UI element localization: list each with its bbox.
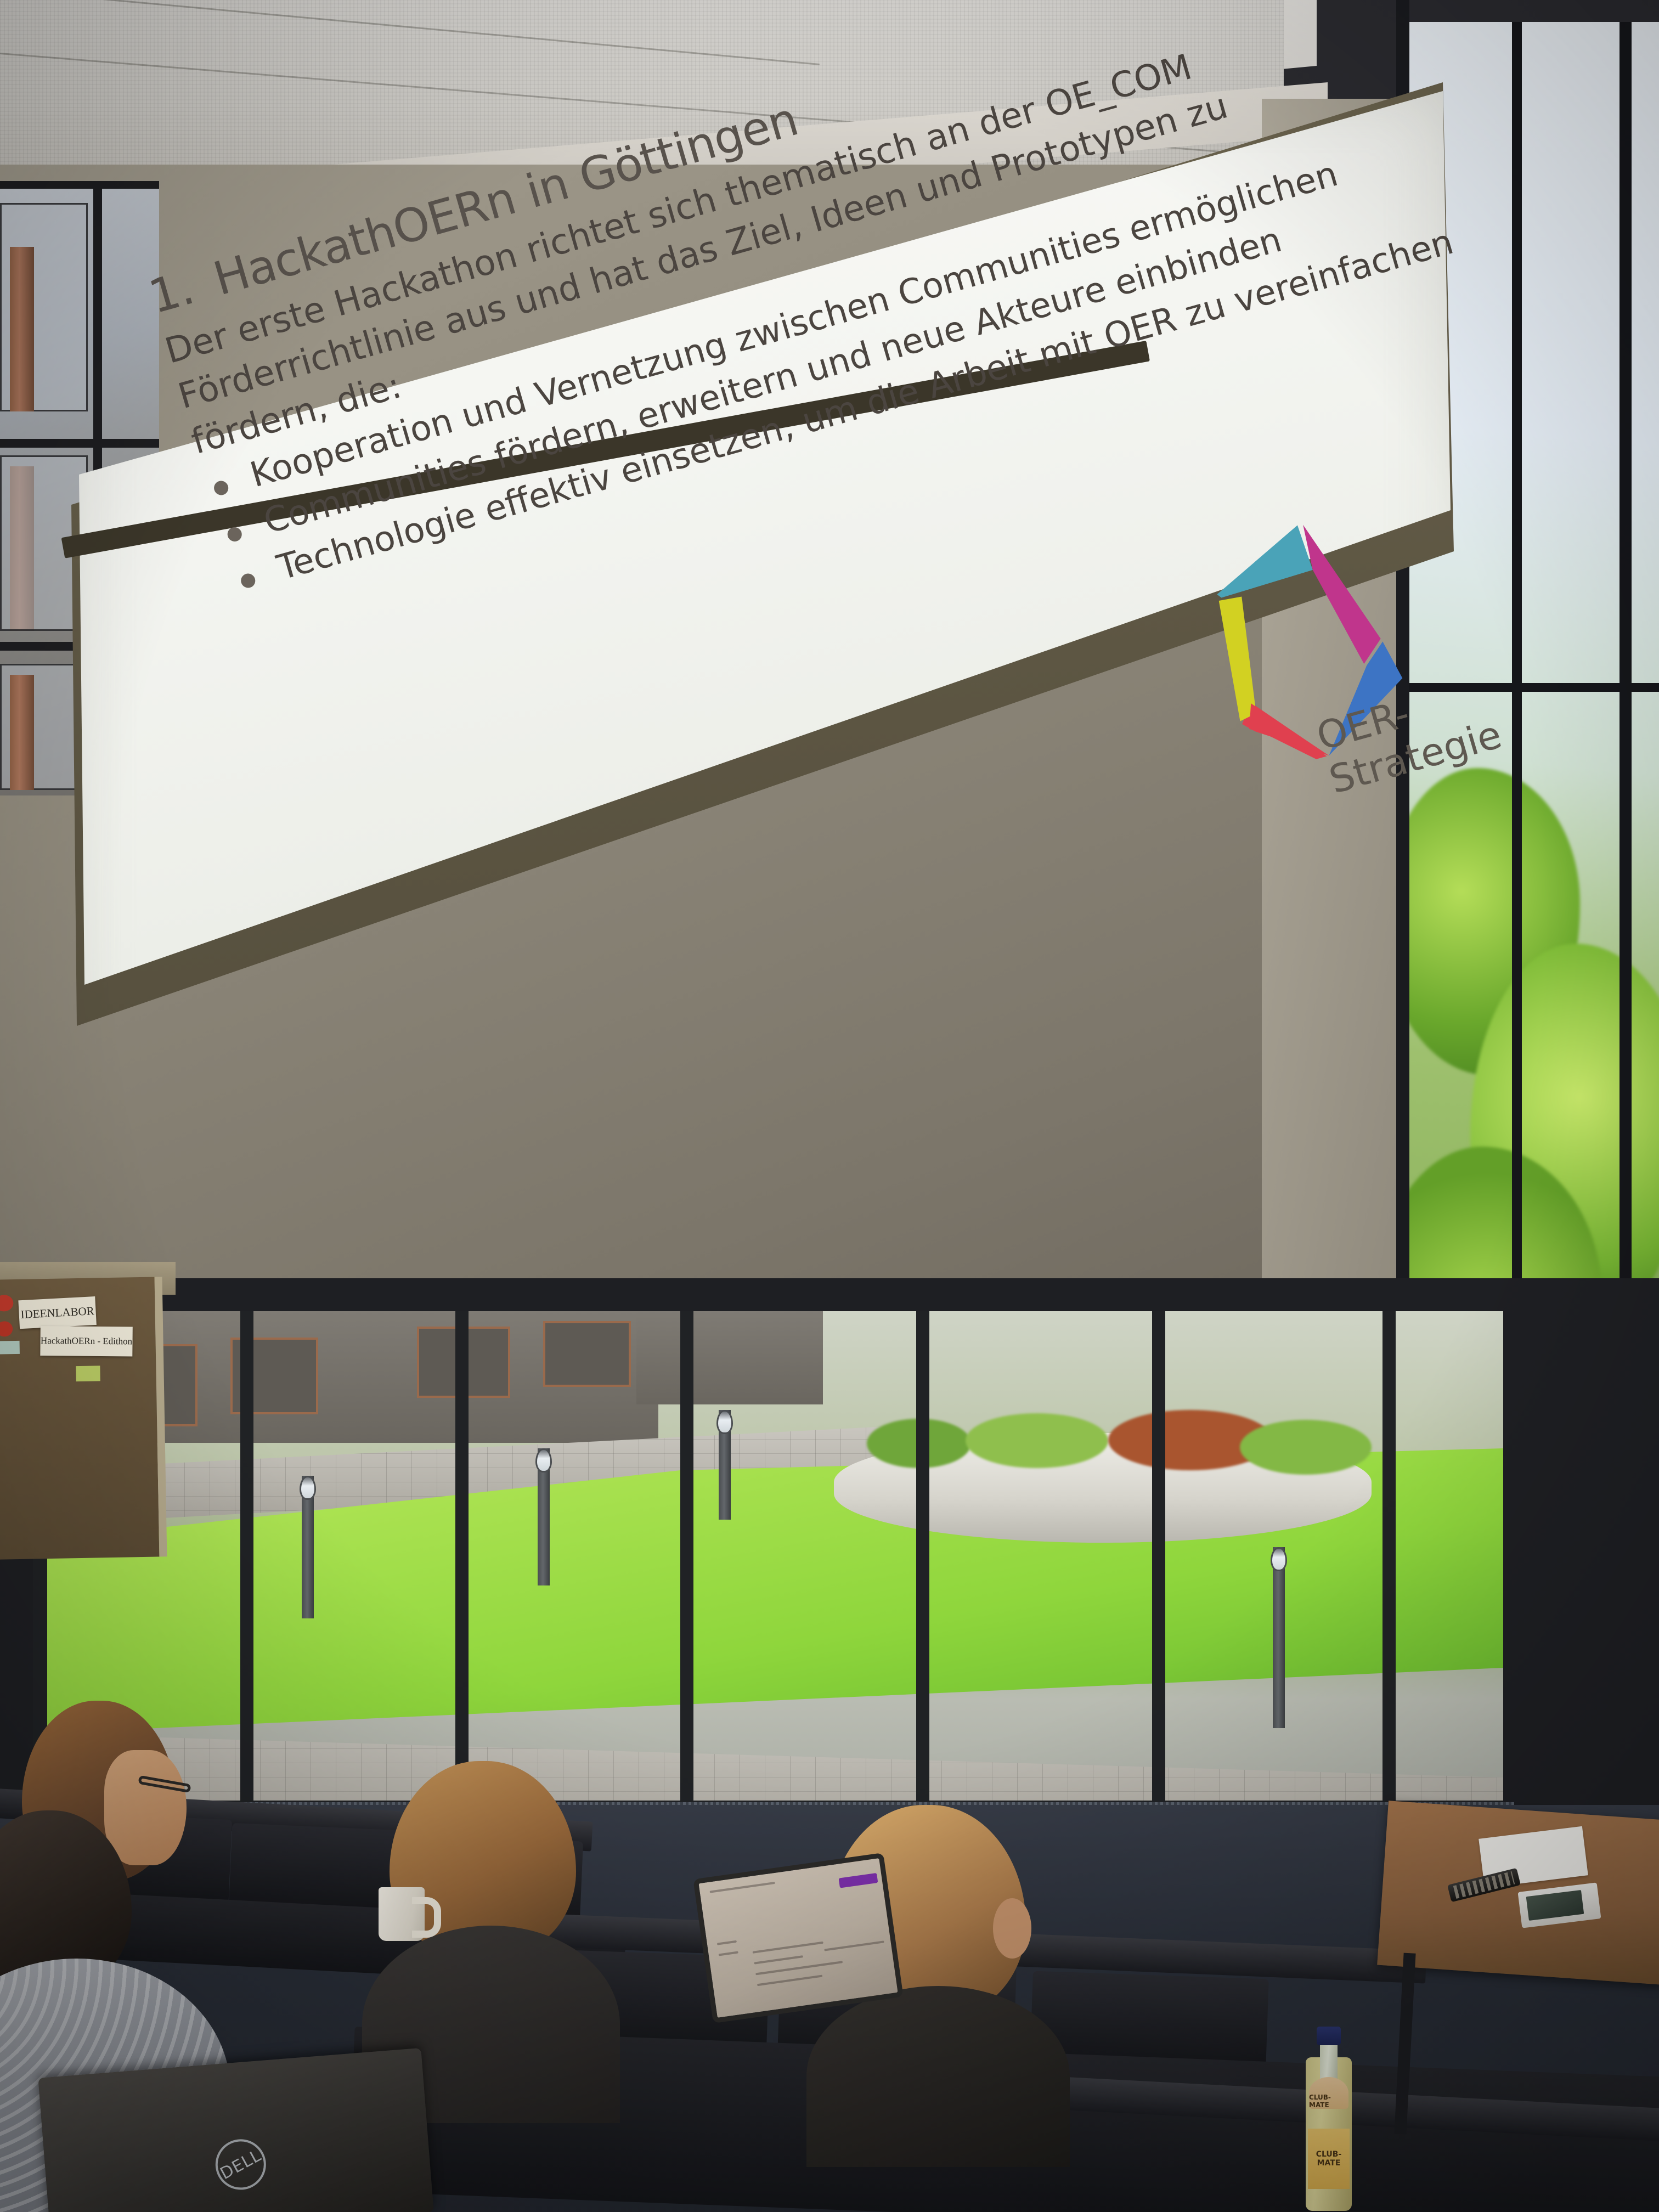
- bollard-lamp: [1273, 1547, 1285, 1728]
- pinboard-sticky-green: [76, 1365, 100, 1381]
- torso: [806, 1986, 1070, 2167]
- window-mullion: [240, 1311, 253, 1821]
- window-mullion: [1383, 1311, 1396, 1821]
- bollard-lamp: [538, 1448, 550, 1585]
- hackathoern-word-dark: Hackath: [940, 0, 1174, 4]
- pinboard: IDEENLABOR HackathOERn - Edithon: [0, 1277, 167, 1559]
- bollard-lamp: [302, 1476, 314, 1618]
- planter-shrub: [1240, 1420, 1372, 1475]
- coffee-mug[interactable]: [379, 1887, 425, 1941]
- courtyard-building: [636, 1311, 823, 1404]
- oer-strategie-label: OER-Strategie: [1312, 654, 1559, 802]
- slide-title-number: 1.: [143, 261, 200, 324]
- courtyard-window-wall: [33, 1311, 1503, 1821]
- pinboard-sticky-red: [0, 1321, 13, 1337]
- macbook-screen[interactable]: [693, 1853, 903, 2023]
- slide-title: 1.HackathOERn in Göttingen: [143, 92, 804, 324]
- photo-scene: Hackath OERn 1.HackathOERn in Göttingen …: [0, 0, 1659, 2212]
- club-mate-bottle[interactable]: CLUB-MATE CLUB-MATE: [1306, 2008, 1352, 2211]
- bottle-label-top: CLUB-MATE: [1309, 2077, 1348, 2109]
- projection-screen: Hackath OERn 1.HackathOERn in Göttingen …: [0, 0, 1659, 1437]
- planter-shrub: [966, 1413, 1108, 1468]
- bottle-label: CLUB-MATE: [1308, 2129, 1350, 2189]
- macbook-laptop[interactable]: [693, 1853, 903, 2023]
- pinboard-note-edithon: HackathOERn - Edithon: [40, 1326, 132, 1356]
- purple-button[interactable]: [839, 1873, 878, 1888]
- bottle-cap: [1317, 2027, 1341, 2045]
- facade-window: [543, 1321, 631, 1387]
- pinboard-sticky-teal: [0, 1341, 20, 1355]
- slide-title-text: HackathOERn in Göttingen: [207, 92, 803, 306]
- window-mullion: [1152, 1311, 1165, 1821]
- bollard-lamp: [719, 1410, 731, 1520]
- window-mullion: [916, 1311, 929, 1821]
- window-mullion: [455, 1311, 469, 1821]
- hackathoern-logo: Hackath OERn: [922, 0, 1369, 42]
- pinboard-note-ideenlabor: IDEENLABOR: [18, 1296, 97, 1329]
- window-mullion: [680, 1311, 693, 1821]
- dell-logo: DELL: [206, 2130, 275, 2199]
- ear: [993, 1898, 1031, 1959]
- pinboard-sticky-red: [0, 1295, 14, 1312]
